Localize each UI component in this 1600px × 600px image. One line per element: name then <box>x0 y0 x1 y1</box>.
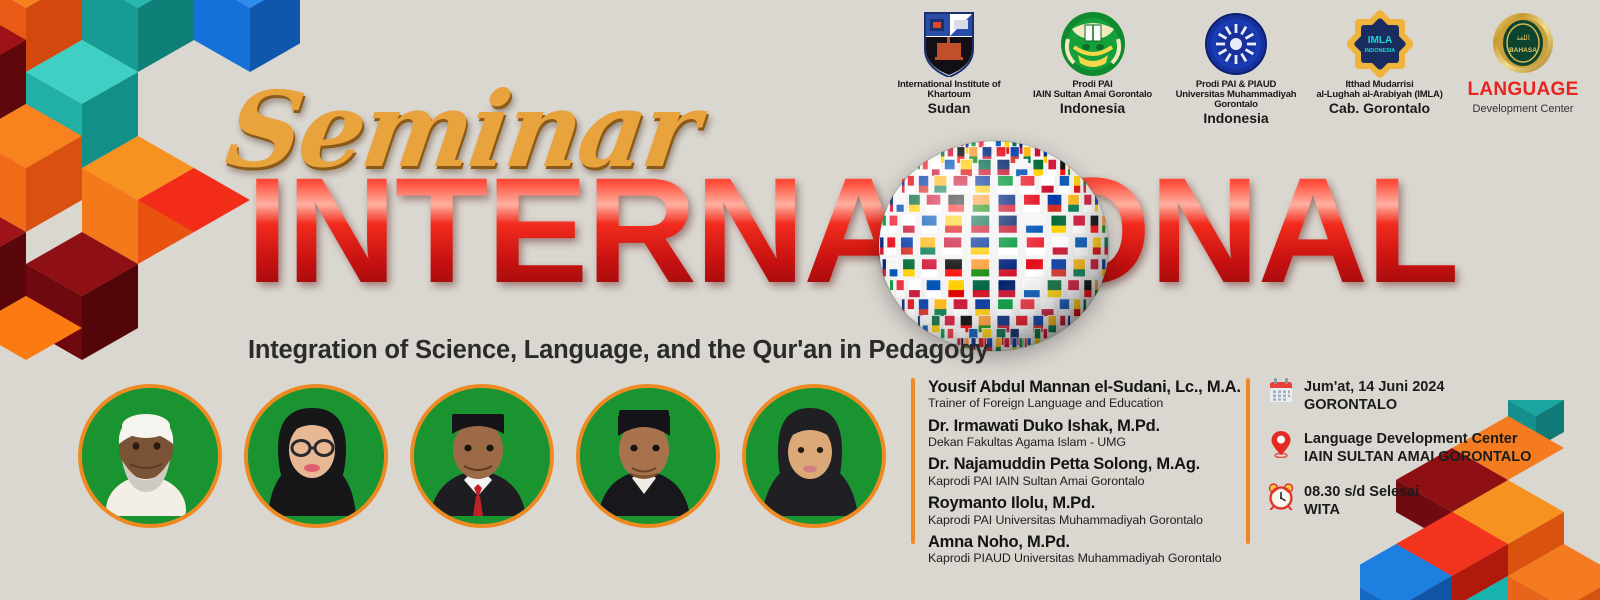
details-divider-rule <box>1246 378 1250 544</box>
speaker-photo-2 <box>244 384 388 528</box>
alarm-clock-icon <box>1268 483 1294 511</box>
logo-item-imla: IMLA INDONESIA Itthad Mudarrisi al-Lugha… <box>1311 8 1449 116</box>
logo-item-ldc: اللغة BAHASA LANGUAGE Development Center <box>1454 8 1592 117</box>
speaker-role: Kaprodi PAI Universitas Muhammadiyah Gor… <box>928 513 1248 527</box>
detail-line2: GORONTALO <box>1304 396 1444 414</box>
logo-item-iain: Prodi PAI IAIN Sultan Amai Gorontalo Ind… <box>1024 8 1162 116</box>
speaker-photo-4 <box>576 384 720 528</box>
speaker-name: Dr. Irmawati Duko Ishak, M.Pd. <box>928 417 1248 435</box>
detail-line2: WITA <box>1304 501 1419 519</box>
logo-caption-country: Sudan <box>880 101 1018 116</box>
speaker-entry: Dr. Najamuddin Petta Solong, M.Ag. Kapro… <box>928 455 1248 488</box>
speaker-entry: Dr. Irmawati Duko Ishak, M.Pd. Dekan Fak… <box>928 417 1248 450</box>
detail-location: Language Development Center IAIN SULTAN … <box>1268 430 1588 466</box>
location-pin-icon <box>1268 430 1294 458</box>
detail-line1: Language Development Center <box>1304 430 1531 448</box>
svg-text:اللغة: اللغة <box>1516 34 1530 42</box>
speaker-list: Yousif Abdul Mannan el-Sudani, Lc., M.A.… <box>928 378 1248 572</box>
svg-text:IMLA: IMLA <box>1367 35 1391 46</box>
ldc-medal-icon: اللغة BAHASA <box>1490 8 1556 80</box>
svg-text:INDONESIA: INDONESIA <box>1364 48 1395 54</box>
logo-caption-country: Indonesia <box>1033 101 1152 116</box>
speaker-entry: Amna Noho, M.Pd. Kaprodi PIAUD Universit… <box>928 533 1248 566</box>
speaker-name: Amna Noho, M.Pd. <box>928 533 1248 551</box>
detail-line1: 08.30 s/d Selesai <box>1304 483 1419 501</box>
speaker-role: Trainer of Foreign Language and Educatio… <box>928 396 1248 410</box>
speaker-role: Dekan Fakultas Agama Islam - UMG <box>928 435 1248 449</box>
seminar-script-title: Seminar <box>221 78 703 182</box>
calendar-icon <box>1268 378 1294 406</box>
seminar-subtitle: Integration of Science, Language, and th… <box>248 336 989 365</box>
speaker-entry: Roymanto Ilolu, M.Pd. Kaprodi PAI Univer… <box>928 494 1248 527</box>
event-details: Jum'at, 14 Juni 2024 GORONTALO Language … <box>1268 378 1588 535</box>
speaker-name: Yousif Abdul Mannan el-Sudani, Lc., M.A. <box>928 378 1248 396</box>
logo-item-khartoum: International Institute of Khartoum Suda… <box>880 8 1018 116</box>
logo-caption-line2: Universitas Muhammadiyah Gorontalo <box>1167 90 1305 110</box>
speaker-photo-row <box>78 384 898 544</box>
ldc-logo-sub: Development Center <box>1473 103 1574 115</box>
speaker-role: Kaprodi PIAUD Universitas Muhammadiyah G… <box>928 551 1248 565</box>
partner-logo-strip: International Institute of Khartoum Suda… <box>880 8 1592 136</box>
speaker-photo-3 <box>410 384 554 528</box>
ldc-logo-name: LANGUAGE <box>1467 79 1578 100</box>
speaker-role: Kaprodi PAI IAIN Sultan Amai Gorontalo <box>928 474 1248 488</box>
muhammadiyah-sun-icon <box>1200 8 1272 80</box>
imla-star-icon: IMLA INDONESIA <box>1347 8 1413 80</box>
speaker-name: Dr. Najamuddin Petta Solong, M.Ag. <box>928 455 1248 473</box>
world-flags-globe-icon <box>878 140 1110 352</box>
logo-caption-country: Indonesia <box>1167 111 1305 126</box>
logo-caption-line2: al-Lughah al-Arabiyah (IMLA) <box>1316 90 1442 100</box>
logo-caption-line1: International Institute of Khartoum <box>880 80 1018 100</box>
iain-emblem-icon <box>1058 8 1128 80</box>
seminar-banner: International Institute of Khartoum Suda… <box>0 0 1600 600</box>
detail-date: Jum'at, 14 Juni 2024 GORONTALO <box>1268 378 1588 414</box>
logo-caption-line2: IAIN Sultan Amai Gorontalo <box>1033 90 1152 100</box>
detail-line2: IAIN SULTAN AMAI GORONTALO <box>1304 448 1531 466</box>
logo-caption-country: Cab. Gorontalo <box>1316 101 1442 116</box>
speaker-photo-5 <box>742 384 886 528</box>
speaker-photo-1 <box>78 384 222 528</box>
logo-item-muhammadiyah: Prodi PAI & PIAUD Universitas Muhammadiy… <box>1167 8 1305 126</box>
detail-line1: Jum'at, 14 Juni 2024 <box>1304 378 1444 396</box>
svg-text:BAHASA: BAHASA <box>1509 47 1537 54</box>
shield-crest-icon <box>921 8 977 80</box>
detail-time: 08.30 s/d Selesai WITA <box>1268 483 1588 519</box>
speaker-entry: Yousif Abdul Mannan el-Sudani, Lc., M.A.… <box>928 378 1248 411</box>
speaker-divider-rule <box>911 378 915 544</box>
speaker-name: Roymanto Ilolu, M.Pd. <box>928 494 1248 512</box>
